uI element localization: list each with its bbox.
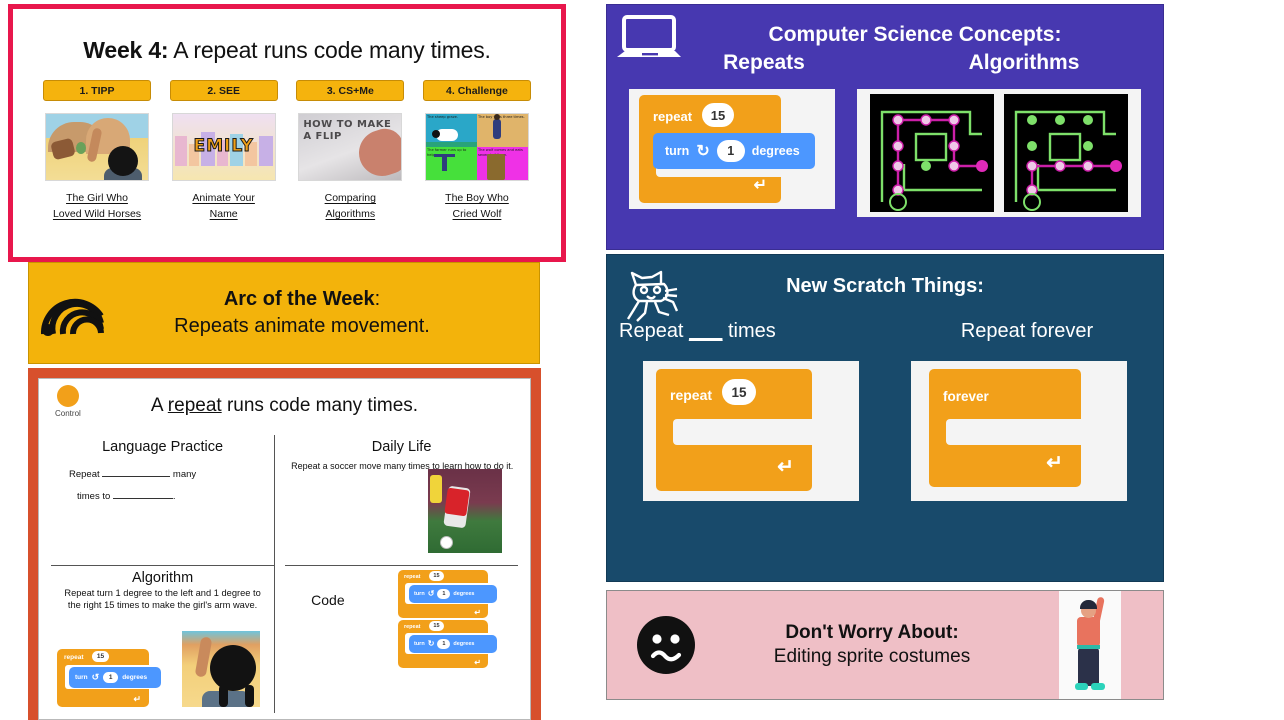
legs-shape: [1078, 648, 1099, 686]
scratch-cat-icon: [619, 265, 683, 327]
arc-of-the-week-panel: Arc of the Week: Repeats animate movemen…: [28, 262, 540, 364]
new-scratch-subheadings: Repeat ___ times Repeat forever: [607, 320, 1163, 343]
subheading-algorithms: Algorithms: [885, 51, 1163, 75]
turn-label: turn: [414, 591, 425, 597]
caption-line-1: Animate Your: [192, 190, 254, 206]
new-scratch-things-panel: New Scratch Things: Repeat ___ times Rep…: [606, 254, 1164, 582]
worry-text-block: Don't Worry About: Editing sprite costum…: [725, 622, 1059, 668]
arc-heading-text: Arc of the Week: [224, 288, 375, 310]
hair-shape: [210, 645, 256, 691]
right-shoe-shape: [1091, 683, 1105, 690]
bush-shape: [76, 142, 86, 154]
turn-value-input[interactable]: 1: [103, 672, 118, 683]
fill-pre-1: Repeat: [69, 469, 102, 480]
turn-label: turn: [414, 641, 425, 647]
poster-grid: Language Practice Repeat many times to .…: [51, 435, 518, 713]
subheading-repeat-forever: Repeat forever: [891, 320, 1163, 343]
door-shape: [487, 154, 505, 180]
turn-block[interactable]: turn ↺ 1 degrees: [69, 667, 161, 688]
caption-line-1: The Boy Who: [445, 190, 509, 206]
turtle-maze-path-left: [870, 94, 994, 212]
arc-heading: Arc of the Week:: [115, 288, 489, 311]
thumbnail-animate-your-name[interactable]: EMILY: [172, 113, 276, 181]
name-word-art: EMILY: [173, 136, 275, 156]
farmer-shape: [442, 155, 447, 171]
list-item-caption[interactable]: The Boy Who Cried Wolf: [445, 190, 509, 222]
algorithm-maze-images: [857, 89, 1141, 217]
page-title: Week 4: A repeat runs code many times.: [13, 37, 561, 64]
control-label: Control: [55, 409, 81, 418]
loop-arrow-icon: ↵: [754, 175, 767, 195]
loop-arrow-icon: ↵: [777, 454, 794, 479]
hair-shape: [1080, 600, 1097, 609]
forever-label: forever: [943, 389, 989, 404]
repeat-c-block[interactable]: repeat 15 ↵: [656, 369, 812, 491]
cs-concepts-heading: Computer Science Concepts:: [607, 23, 1163, 47]
cell-heading: Daily Life: [285, 439, 518, 455]
waving-person-sprite: [1059, 591, 1121, 699]
player-jersey-shape: [444, 488, 469, 517]
thumbnail-girl-wild-horses[interactable]: [45, 113, 149, 181]
degrees-label: degrees: [752, 144, 800, 158]
fill-post-2: .: [173, 491, 176, 502]
forever-c-block[interactable]: forever ↵: [929, 369, 1081, 487]
thumbnail-boy-cried-wolf[interactable]: The sheep graze. The boy yells three tim…: [425, 113, 529, 181]
confused-face-icon: [607, 615, 725, 675]
boy-shape: [493, 119, 501, 139]
turn-counterclockwise-icon: ↺: [428, 589, 435, 598]
blank-field-1[interactable]: [102, 467, 170, 477]
poster-title-keyword: repeat: [168, 395, 222, 416]
caption-line-2: Algorithms: [325, 206, 376, 222]
step-button-cs-me[interactable]: 3. CS+Me: [296, 80, 404, 101]
degrees-label: degrees: [122, 674, 147, 681]
dont-worry-about-panel: Don't Worry About: Editing sprite costum…: [606, 590, 1164, 700]
soccer-ball-shape: [440, 536, 453, 549]
caption-line-2: Loved Wild Horses: [53, 206, 141, 222]
turn-clockwise-icon: ↻: [428, 639, 435, 648]
arc-heading-colon: :: [375, 288, 381, 310]
cell-code: Code repeat 15 ↵ turn ↺: [285, 566, 518, 713]
cell-heading: Algorithm: [51, 570, 274, 586]
repeat-label: repeat: [653, 109, 692, 124]
degrees-label: degrees: [453, 591, 474, 597]
control-dot-icon: [57, 385, 79, 407]
poster-left-column: Language Practice Repeat many times to .…: [51, 435, 275, 713]
arc-subheading: Repeats animate movement.: [115, 315, 489, 338]
referee-shape: [430, 475, 442, 503]
control-category-badge: Control: [55, 385, 81, 418]
cell-language-practice: Language Practice Repeat many times to .: [51, 435, 274, 566]
scratch-block-repeats-demo[interactable]: repeat 15 ↵ turn ↻ 1 degrees: [629, 89, 835, 209]
comic-panel-4: The wolf comes and eats several of them.: [477, 147, 528, 180]
caption-line-2: Cried Wolf: [445, 206, 509, 222]
cell-algorithm: Algorithm Repeat turn 1 degree to the le…: [51, 566, 274, 713]
left-shoe-shape: [1075, 683, 1088, 690]
repeat-value-input[interactable]: 15: [722, 379, 756, 405]
comic-panel-2: The boy yells three times.: [477, 114, 528, 147]
scratch-block-forever[interactable]: forever ↵: [911, 361, 1127, 501]
turn-label: turn: [75, 674, 88, 681]
cs-concepts-headings: Computer Science Concepts: Repeats Algor…: [607, 5, 1163, 75]
step-button-see[interactable]: 2. SEE: [170, 80, 278, 101]
repeat-label: repeat: [404, 624, 421, 630]
step-button-tipp[interactable]: 1. TIPP: [43, 80, 151, 101]
turn-block[interactable]: turn ↻ 1 degrees: [653, 133, 815, 169]
girl-waving-arm-illustration: [182, 631, 260, 707]
list-item-caption[interactable]: Animate Your Name: [192, 190, 254, 222]
cs-concepts-panel: Computer Science Concepts: Repeats Algor…: [606, 4, 1164, 250]
loop-arrow-icon: ↵: [474, 608, 481, 617]
loop-arrow-icon: ↵: [474, 658, 481, 667]
caption-line-1: The Girl Who: [53, 190, 141, 206]
new-scratch-heading: New Scratch Things:: [607, 255, 1163, 298]
turn-value-input[interactable]: 1: [437, 639, 450, 649]
repeat-label: repeat: [64, 654, 84, 661]
repeat-value-input[interactable]: 15: [702, 103, 734, 127]
fill-post-1: many: [170, 469, 196, 480]
worry-subheading: Editing sprite costumes: [725, 646, 1019, 668]
poster-inner: Control A repeat runs code many times. L…: [38, 378, 531, 720]
week-label: Week 4:: [83, 37, 168, 63]
worry-heading: Don't Worry About:: [725, 622, 1019, 644]
turn-counterclockwise-icon: ↺: [92, 672, 100, 683]
new-scratch-block-examples: repeat 15 ↵ forever ↵: [607, 361, 1163, 501]
repeat-value-input[interactable]: 15: [429, 571, 444, 581]
turn-block-2[interactable]: turn ↻ 1 degrees: [409, 635, 497, 653]
fill-pre-2: times to: [77, 491, 113, 502]
loop-arrow-icon: ↵: [133, 694, 141, 705]
cs-concepts-body: repeat 15 ↵ turn ↻ 1 degrees: [607, 89, 1163, 217]
sheep-shape: [436, 129, 458, 141]
poster-title: A repeat runs code many times.: [51, 387, 518, 417]
thumbnail-comparing-algorithms[interactable]: HOW TO MAKE A FLIP: [298, 113, 402, 181]
turn-block-1[interactable]: turn ↺ 1 degrees: [409, 585, 497, 603]
language-fill-line-2: times to .: [77, 489, 274, 502]
repeat-value-input[interactable]: 15: [429, 621, 444, 631]
belt-shape: [1077, 645, 1100, 649]
braid-right: [245, 685, 254, 707]
concept-poster-panel: Control A repeat runs code many times. L…: [28, 368, 541, 720]
turn-clockwise-icon: ↻: [696, 141, 709, 161]
cell-heading: Language Practice: [51, 439, 274, 455]
scratch-block-repeat-15[interactable]: repeat 15 ↵: [643, 361, 859, 501]
turn-value-input[interactable]: 1: [717, 140, 745, 162]
repeat-label: repeat: [670, 387, 712, 403]
algorithm-body-text: Repeat turn 1 degree to the left and 1 d…: [51, 587, 274, 611]
list-item-caption[interactable]: Comparing Algorithms: [325, 190, 376, 222]
turn-value-input[interactable]: 1: [437, 589, 450, 599]
list-item-caption[interactable]: The Girl Who Loved Wild Horses: [53, 190, 141, 222]
list-item[interactable]: 1. TIPP The Girl Who Loved Wild Horses: [41, 80, 153, 222]
poster-title-post: runs code many times.: [222, 395, 418, 416]
blank-field-2[interactable]: [113, 489, 173, 499]
cs-concepts-subheadings: Repeats Algorithms: [607, 51, 1163, 75]
soccer-player-photo: [428, 469, 502, 553]
degrees-label: degrees: [453, 641, 474, 647]
comic-caption-1: The sheep graze.: [427, 115, 476, 120]
comic-panel-3: The farmer runs up to help.: [426, 147, 477, 180]
scratch-block-algorithm[interactable]: repeat 15 ↵ turn ↺ 1 degrees: [57, 649, 161, 709]
list-item[interactable]: 2. SEE EMILY Animate Your Name: [168, 80, 280, 222]
list-item[interactable]: 4. Challenge The sheep graze. The boy ye…: [421, 80, 533, 222]
poster-right-column: Daily Life Repeat a soccer move many tim…: [275, 435, 518, 713]
c-block-slot: [673, 419, 812, 445]
poster-title-pre: A: [151, 395, 168, 416]
torso-shape: [1077, 617, 1100, 647]
scratch-block-stack-code[interactable]: repeat 15 ↵ turn ↺ 1 degrees: [398, 570, 498, 670]
turn-label: turn: [665, 144, 689, 158]
repeat-times-blank: ___: [689, 320, 722, 342]
arc-rainbow-icon: [29, 290, 115, 336]
repeat-label: repeat: [404, 574, 421, 580]
comic-panel-1: The sheep graze.: [426, 114, 477, 147]
week-statement: A repeat runs code many times.: [168, 37, 490, 63]
loop-arrow-icon: ↵: [1046, 450, 1063, 475]
language-fill-line-1: Repeat many: [69, 467, 274, 480]
laptop-icon: [615, 13, 687, 67]
step-list: 1. TIPP The Girl Who Loved Wild Horses: [13, 80, 561, 222]
week-overview-panel: Week 4: A repeat runs code many times. 1…: [8, 4, 566, 262]
cell-daily-life: Daily Life Repeat a soccer move many tim…: [285, 435, 518, 566]
turtle-maze-path-right: [1004, 94, 1128, 212]
list-item[interactable]: 3. CS+Me HOW TO MAKE A FLIP Comparing Al…: [294, 80, 406, 222]
c-block-slot: [946, 419, 1081, 445]
caption-line-2: Name: [192, 206, 254, 222]
repeat-value-input[interactable]: 15: [92, 651, 109, 662]
slide-canvas: Week 4: A repeat runs code many times. 1…: [0, 0, 1284, 720]
repeat-times-post: times: [722, 320, 775, 342]
horse-shape: [50, 138, 76, 161]
arc-text-block: Arc of the Week: Repeats animate movemen…: [115, 288, 539, 338]
comic-caption-2: The boy yells three times.: [478, 115, 527, 120]
girl-head-shape: [108, 146, 138, 176]
caption-line-1: Comparing: [325, 190, 376, 206]
step-button-challenge[interactable]: 4. Challenge: [423, 80, 531, 101]
